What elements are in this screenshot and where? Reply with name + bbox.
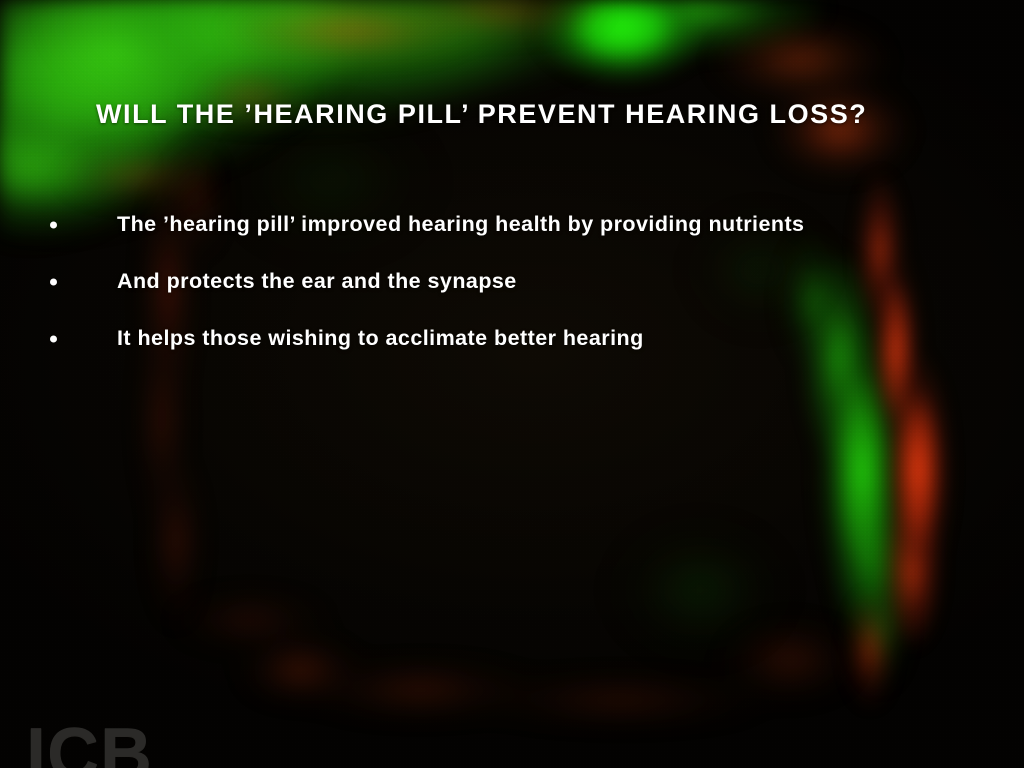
bullet-dot-icon: [50, 335, 57, 342]
bullet-dot-icon: [50, 278, 57, 285]
slide-title: WILL THE ’HEARING PILL’ PREVENT HEARING …: [96, 99, 867, 130]
presentation-slide: WILL THE ’HEARING PILL’ PREVENT HEARING …: [0, 0, 1024, 768]
watermark-logo: ICB: [26, 718, 153, 768]
bullet-text: And protects the ear and the synapse: [117, 269, 517, 294]
list-item: It helps those wishing to acclimate bett…: [0, 310, 1024, 367]
slide-content: WILL THE ’HEARING PILL’ PREVENT HEARING …: [0, 0, 1024, 768]
bullet-text: It helps those wishing to acclimate bett…: [117, 326, 644, 351]
bullet-dot-icon: [50, 221, 57, 228]
bullet-text: The ’hearing pill’ improved hearing heal…: [117, 212, 804, 237]
bullet-list: The ’hearing pill’ improved hearing heal…: [0, 196, 1024, 367]
list-item: And protects the ear and the synapse: [0, 253, 1024, 310]
list-item: The ’hearing pill’ improved hearing heal…: [0, 196, 1024, 253]
